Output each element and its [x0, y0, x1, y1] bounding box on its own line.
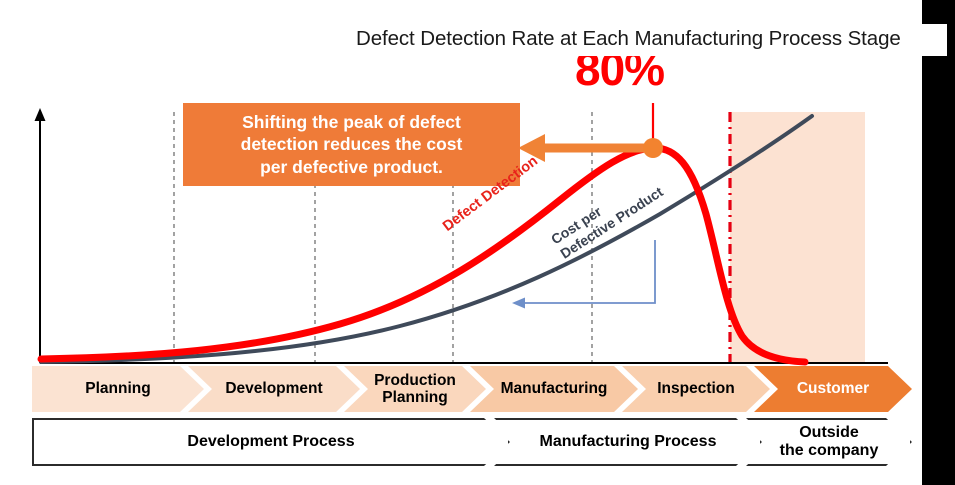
peak-marker-dot: [643, 138, 663, 158]
stage-chevron-label: Production Planning: [374, 372, 456, 406]
stage-chevron-inspection[interactable]: Inspection: [622, 366, 770, 412]
right-black-band: [922, 0, 955, 485]
process-summary-bar: Development Process Manufacturing Proces…: [32, 418, 912, 466]
stage-chevron-row: Planning Development Production Planning…: [32, 366, 912, 412]
callout-arrow: [518, 134, 655, 162]
stage-chevron-manufacturing[interactable]: Manufacturing: [470, 366, 638, 412]
process-development-label: Development Process: [187, 433, 354, 451]
page-title-overlay: Defect Detection Rate at Each Manufactur…: [356, 27, 946, 51]
process-development[interactable]: Development Process: [32, 418, 510, 466]
stage-chevron-label: Customer: [797, 380, 869, 397]
stage-chevron-label: Planning: [85, 380, 150, 397]
stage-chevron-label: Development: [225, 380, 322, 397]
stage-chevron-development[interactable]: Development: [188, 366, 360, 412]
y-axis-arrowhead: [35, 108, 46, 121]
process-outside-company[interactable]: Outside the company: [746, 418, 912, 466]
stage-chevron-customer[interactable]: Customer: [754, 366, 912, 412]
infographic-canvas: Defect Detection Rate at Each Manufactur…: [0, 0, 955, 485]
process-manufacturing-label: Manufacturing Process: [540, 433, 717, 451]
process-outside-company-label: Outside the company: [780, 424, 879, 460]
callout-box: Shifting the peak of defect detection re…: [183, 103, 520, 186]
chart-plot-area: [0, 0, 955, 485]
stage-chevron-label: Manufacturing: [501, 380, 608, 397]
stage-chevron-planning[interactable]: Planning: [32, 366, 204, 412]
callout-text: Shifting the peak of defect detection re…: [241, 111, 463, 178]
process-manufacturing[interactable]: Manufacturing Process: [494, 418, 762, 466]
shaded-customer-region: [730, 112, 865, 363]
stage-chevron-production-planning[interactable]: Production Planning: [344, 366, 486, 412]
stage-chevron-label: Inspection: [657, 380, 735, 397]
